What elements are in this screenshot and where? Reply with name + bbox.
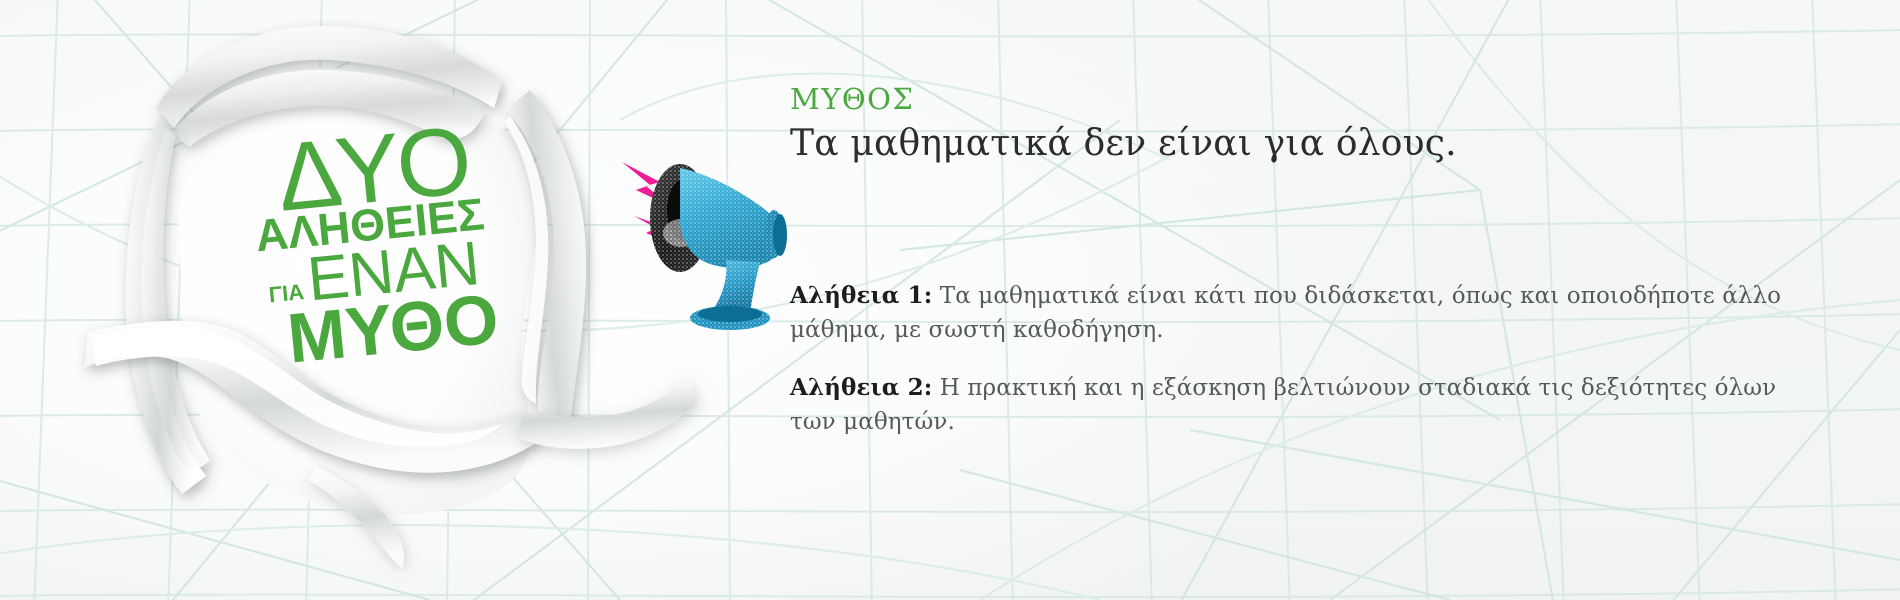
megaphone-icon [618,138,818,338]
paper-headline: ΔΥΟ ΑΛΗΘΕΙΕΣ ΓΙΑ ΕΝΑΝ ΜΥΘΟ [213,108,536,386]
truth-item: Αλήθεια 1: Τα μαθηματικά είναι κάτι που … [790,279,1790,348]
truth-item: Αλήθεια 2: Η πρακτική και η εξάσκηση βελ… [790,371,1790,440]
megaphone-svg [618,138,818,338]
truth-label: Αλήθεια 2: [790,374,932,401]
paper-headline-plain: ΔΥΟ ΑΛΗΘΕΙΕΣ ΓΙΑ ΕΝΑΝ ΜΥΘΟ [0,0,1,1]
banner-root: ΔΥΟ ΑΛΗΘΕΙΕΣ ΓΙΑ ΕΝΑΝ ΜΥΘΟ [0,0,1900,600]
truth-text: Τα μαθηματικά είναι κάτι που διδάσκεται,… [790,283,1781,344]
truth-text: Η πρακτική και η εξάσκηση βελτιώνουν στα… [790,375,1776,436]
content-column: ΜΥΘΟΣ Τα μαθηματικά δεν είναι για όλους.… [790,84,1790,463]
megaphone-body [680,168,787,268]
truths-list: Αλήθεια 1: Τα μαθηματικά είναι κάτι που … [790,279,1790,440]
megaphone-handle [690,260,770,330]
myth-label: ΜΥΘΟΣ [790,84,1790,116]
myth-statement: Τα μαθηματικά δεν είναι για όλους. [790,121,1790,167]
truth-label: Αλήθεια 1: [790,282,932,309]
